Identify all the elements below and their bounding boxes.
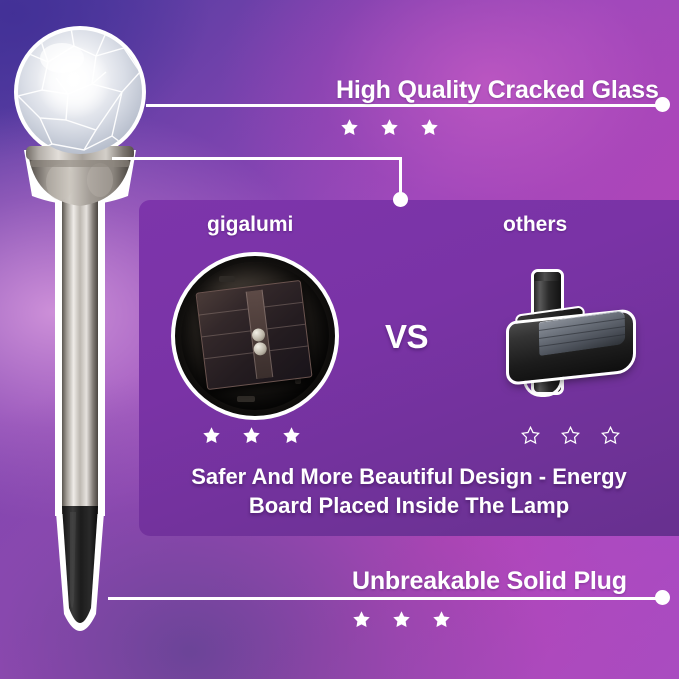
star-icon-empty [601, 426, 620, 445]
star-icon-filled [432, 610, 451, 629]
star-icon-filled [202, 426, 221, 445]
gigalumi-energy-board-photo [171, 252, 339, 420]
callout-bottom-stars [352, 610, 472, 629]
compare-left-stars [202, 426, 322, 445]
compare-left-label: gigalumi [207, 213, 293, 237]
lamp-stem [62, 192, 98, 514]
cap-notch [219, 276, 235, 282]
connector-line-bottom [108, 597, 662, 600]
versus-label: VS [385, 318, 428, 356]
star-icon-filled [420, 118, 439, 137]
callout-top-stars [340, 118, 460, 137]
star-icon-filled [282, 426, 301, 445]
compare-right-label: others [503, 213, 567, 237]
callout-top-title: High Quality Cracked Glass [336, 76, 659, 105]
star-icon-filled [340, 118, 359, 137]
energy-board [195, 280, 312, 390]
star-icon-filled [380, 118, 399, 137]
star-icon-filled [392, 610, 411, 629]
connector-line-middle-horizontal [112, 157, 402, 160]
connector-dot-bottom [655, 590, 670, 605]
others-solar-light-photo [487, 272, 645, 394]
post-cap [534, 272, 561, 281]
star-icon-filled [352, 610, 371, 629]
connector-dot-middle [393, 192, 408, 207]
compare-caption-line-2: Board Placed Inside The Lamp [157, 491, 661, 520]
callout-bottom-title: Unbreakable Solid Plug [352, 567, 627, 596]
product-infographic: High Quality Cracked Glass gigalumi othe… [0, 0, 679, 679]
star-icon-empty [521, 426, 540, 445]
star-icon-empty [561, 426, 580, 445]
compare-caption: Safer And More Beautiful Design - Energy… [139, 462, 679, 521]
cap-notch [237, 396, 255, 402]
compare-right-stars [521, 426, 641, 445]
star-icon-filled [242, 426, 261, 445]
compare-caption-line-1: Safer And More Beautiful Design - Energy [157, 462, 661, 491]
